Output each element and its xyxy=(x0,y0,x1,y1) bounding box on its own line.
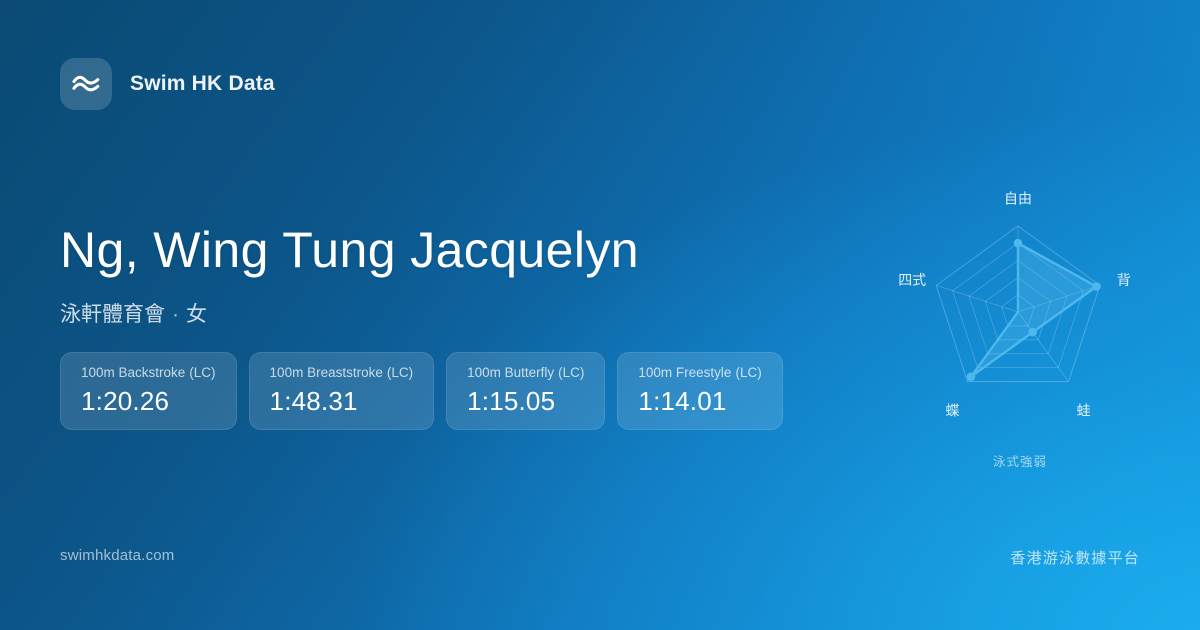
stat-event: 100m Butterfly xyxy=(467,365,554,380)
radar-axis-label: 蛙 xyxy=(1077,402,1091,418)
athlete-name: Ng, Wing Tung Jacquelyn xyxy=(60,221,639,279)
radar-axis-label: 四式 xyxy=(898,272,926,288)
footer-site: swimhkdata.com xyxy=(60,547,175,564)
stat-course: (LC) xyxy=(554,365,584,380)
stat-event: 100m Backstroke xyxy=(81,365,185,380)
wave-icon xyxy=(60,58,112,110)
stat-time: 1:20.26 xyxy=(81,388,216,415)
stat-card: 100m Butterfly(LC) 1:15.05 xyxy=(446,352,605,430)
stat-card-label: 100m Backstroke(LC) xyxy=(81,366,216,381)
brand-name: Swim HK Data xyxy=(130,72,275,96)
meta-separator: · xyxy=(165,303,186,326)
stat-card-label: 100m Butterfly(LC) xyxy=(467,366,584,381)
stat-time: 1:15.05 xyxy=(467,388,584,415)
stat-card-list: 100m Backstroke(LC) 1:20.26 100m Breasts… xyxy=(60,352,783,430)
stat-course: (LC) xyxy=(731,365,761,380)
stat-card: 100m Breaststroke(LC) 1:48.31 xyxy=(249,352,435,430)
stat-time: 1:14.01 xyxy=(638,388,761,415)
radar-axis-label: 背 xyxy=(1117,272,1131,288)
brand: Swim HK Data xyxy=(60,58,275,110)
stroke-radar-chart: 自由背蛙蝶四式 泳式強弱 xyxy=(878,170,1162,470)
stat-event: 100m Breaststroke xyxy=(270,365,383,380)
athlete-gender: 女 xyxy=(186,303,207,326)
stat-course: (LC) xyxy=(383,365,413,380)
radar-axis-label: 蝶 xyxy=(946,402,960,418)
stat-time: 1:48.31 xyxy=(270,388,414,415)
stat-card-label: 100m Breaststroke(LC) xyxy=(270,366,414,381)
stat-course: (LC) xyxy=(185,365,215,380)
footer-tagline: 香港游泳數據平台 xyxy=(1010,547,1140,568)
radar-caption: 泳式強弱 xyxy=(878,451,1162,470)
share-card: Swim HK Data Ng, Wing Tung Jacquelyn 泳軒體… xyxy=(0,0,1200,630)
stat-event: 100m Freestyle xyxy=(638,365,731,380)
stat-card: 100m Freestyle(LC) 1:14.01 xyxy=(617,352,782,430)
athlete-meta: 泳軒體育會·女 xyxy=(60,298,207,328)
stat-card-label: 100m Freestyle(LC) xyxy=(638,366,761,381)
stat-card: 100m Backstroke(LC) 1:20.26 xyxy=(60,352,237,430)
athlete-club: 泳軒體育會 xyxy=(60,303,165,326)
radar-axis-label: 自由 xyxy=(1004,191,1032,207)
